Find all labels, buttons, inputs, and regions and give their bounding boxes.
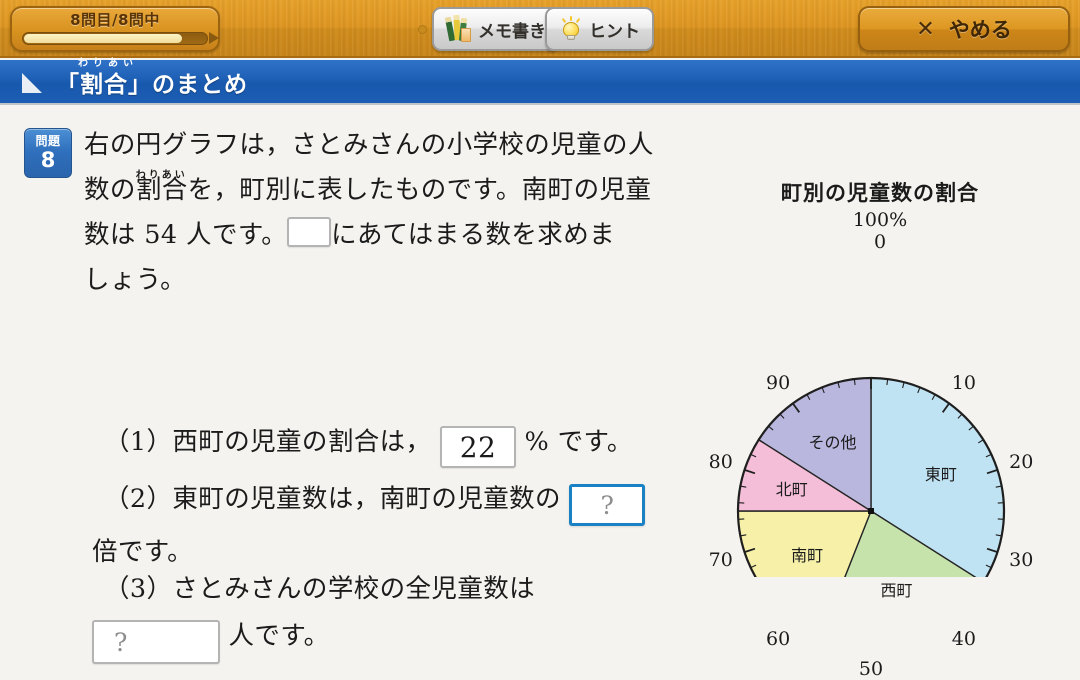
problem-line-3b: にあてはまる数を求めま xyxy=(331,220,615,250)
pie-slice-label: 東町 xyxy=(925,461,957,485)
question-3-answer-input[interactable]: ? xyxy=(92,620,220,664)
title-bar: わりあい 「割合」のまとめ xyxy=(0,60,1080,105)
question-1-answer-input[interactable]: 22 xyxy=(440,426,516,468)
top-toolbar: 8問目/8問中 メモ書き ヒント ✕ やめる xyxy=(0,0,1080,58)
axis-tick-label: 10 xyxy=(952,372,976,394)
question-1-suffix: % です。 xyxy=(524,427,632,457)
flag-triangle-icon xyxy=(22,73,42,93)
question-1-row: （1）西町の児童の割合は， 22 % です。 xyxy=(104,421,633,468)
progress-track xyxy=(22,32,208,45)
problem-line-4: しょう。 xyxy=(84,265,186,295)
close-icon: ✕ xyxy=(916,17,934,42)
separator-dot-icon xyxy=(418,25,427,34)
hint-button-label: ヒント xyxy=(589,17,640,42)
progress-indicator: 8問目/8問中 xyxy=(10,6,220,52)
axis-tick-label: 30 xyxy=(1009,549,1033,571)
pie-chart: 町別の児童数の割合 100% 0 102030405060708090 東町西町… xyxy=(690,177,1070,577)
content-area: 問題 8 右の円グラフは，さとみさんの小学校の児童の人 数のわりあい割合を，町別… xyxy=(0,107,1080,676)
problem-statement: 右の円グラフは，さとみさんの小学校の児童の人 数のわりあい割合を，町別に表したも… xyxy=(84,123,664,303)
axis-tick-label: 90 xyxy=(766,372,790,394)
pie-slice-label: 南町 xyxy=(791,542,823,566)
pencils-icon xyxy=(446,15,472,43)
pie-slice-label: 西町 xyxy=(880,577,912,601)
question-3-suffix: 人です。 xyxy=(229,621,330,651)
inline-blank-box xyxy=(287,217,331,247)
pie-chart-svg xyxy=(690,177,1070,577)
memo-button-label: メモ書き xyxy=(478,17,546,42)
axis-tick-label: 80 xyxy=(709,451,733,473)
question-2-suffix: 倍です。 xyxy=(92,537,193,567)
title-ruby: わりあい xyxy=(78,54,138,69)
axis-tick-label: 50 xyxy=(859,658,883,680)
minor-tick xyxy=(854,379,855,385)
pie-slice-label: 北町 xyxy=(776,476,808,500)
axis-tick-label: 20 xyxy=(1009,451,1033,473)
axis-tick-label: 60 xyxy=(766,628,790,650)
question-2-answer-input[interactable]: ? xyxy=(569,484,645,526)
problem-line-2b: を，町別に表したものです。南町の児童 xyxy=(188,175,652,205)
question-2-prefix: （2）東町の児童数は，南町の児童数の xyxy=(104,484,561,514)
minor-tick xyxy=(887,379,888,385)
question-number-badge: 問題 8 xyxy=(24,128,72,178)
problem-line-3a: 数は 54 人です。 xyxy=(84,220,287,250)
app-root: 8問目/8問中 メモ書き ヒント ✕ やめる xyxy=(0,0,1080,676)
quit-button[interactable]: ✕ やめる xyxy=(858,6,1070,52)
progress-fill xyxy=(24,34,182,43)
problem-ruby-text: わりあい xyxy=(136,153,188,198)
progress-label: 8問目/8問中 xyxy=(20,10,210,30)
flag-icon xyxy=(209,32,219,44)
axis-tick-label: 70 xyxy=(709,549,733,571)
problem-ruby-group: わりあい割合 xyxy=(136,168,188,213)
page-title: わりあい 「割合」のまとめ xyxy=(56,65,248,99)
question-2-row: （2）東町の児童数は，南町の児童数の ? xyxy=(104,478,645,526)
pie-center-dot xyxy=(868,508,874,514)
lightbulb-icon xyxy=(559,16,583,42)
axis-tick-label: 40 xyxy=(952,628,976,650)
quit-button-label: やめる xyxy=(949,14,1012,44)
question-badge-number: 8 xyxy=(41,150,56,171)
question-2-suffix-row: 倍です。 xyxy=(92,531,193,568)
question-3-row: （3）さとみさんの学校の全児童数は xyxy=(104,568,535,605)
memo-button[interactable]: メモ書き xyxy=(432,7,560,51)
question-badge-label: 問題 xyxy=(35,135,60,147)
title-text: 「割合」のまとめ xyxy=(56,72,248,98)
question-1-prefix: （1）西町の児童の割合は， xyxy=(104,427,431,457)
pie-slice-label: その他 xyxy=(809,429,857,453)
problem-line-2a: 数の xyxy=(84,175,136,205)
question-3-answer-row: ? 人です。 xyxy=(92,615,330,664)
hint-button[interactable]: ヒント xyxy=(545,7,654,51)
question-3-prefix: （3）さとみさんの学校の全児童数は xyxy=(104,574,535,604)
